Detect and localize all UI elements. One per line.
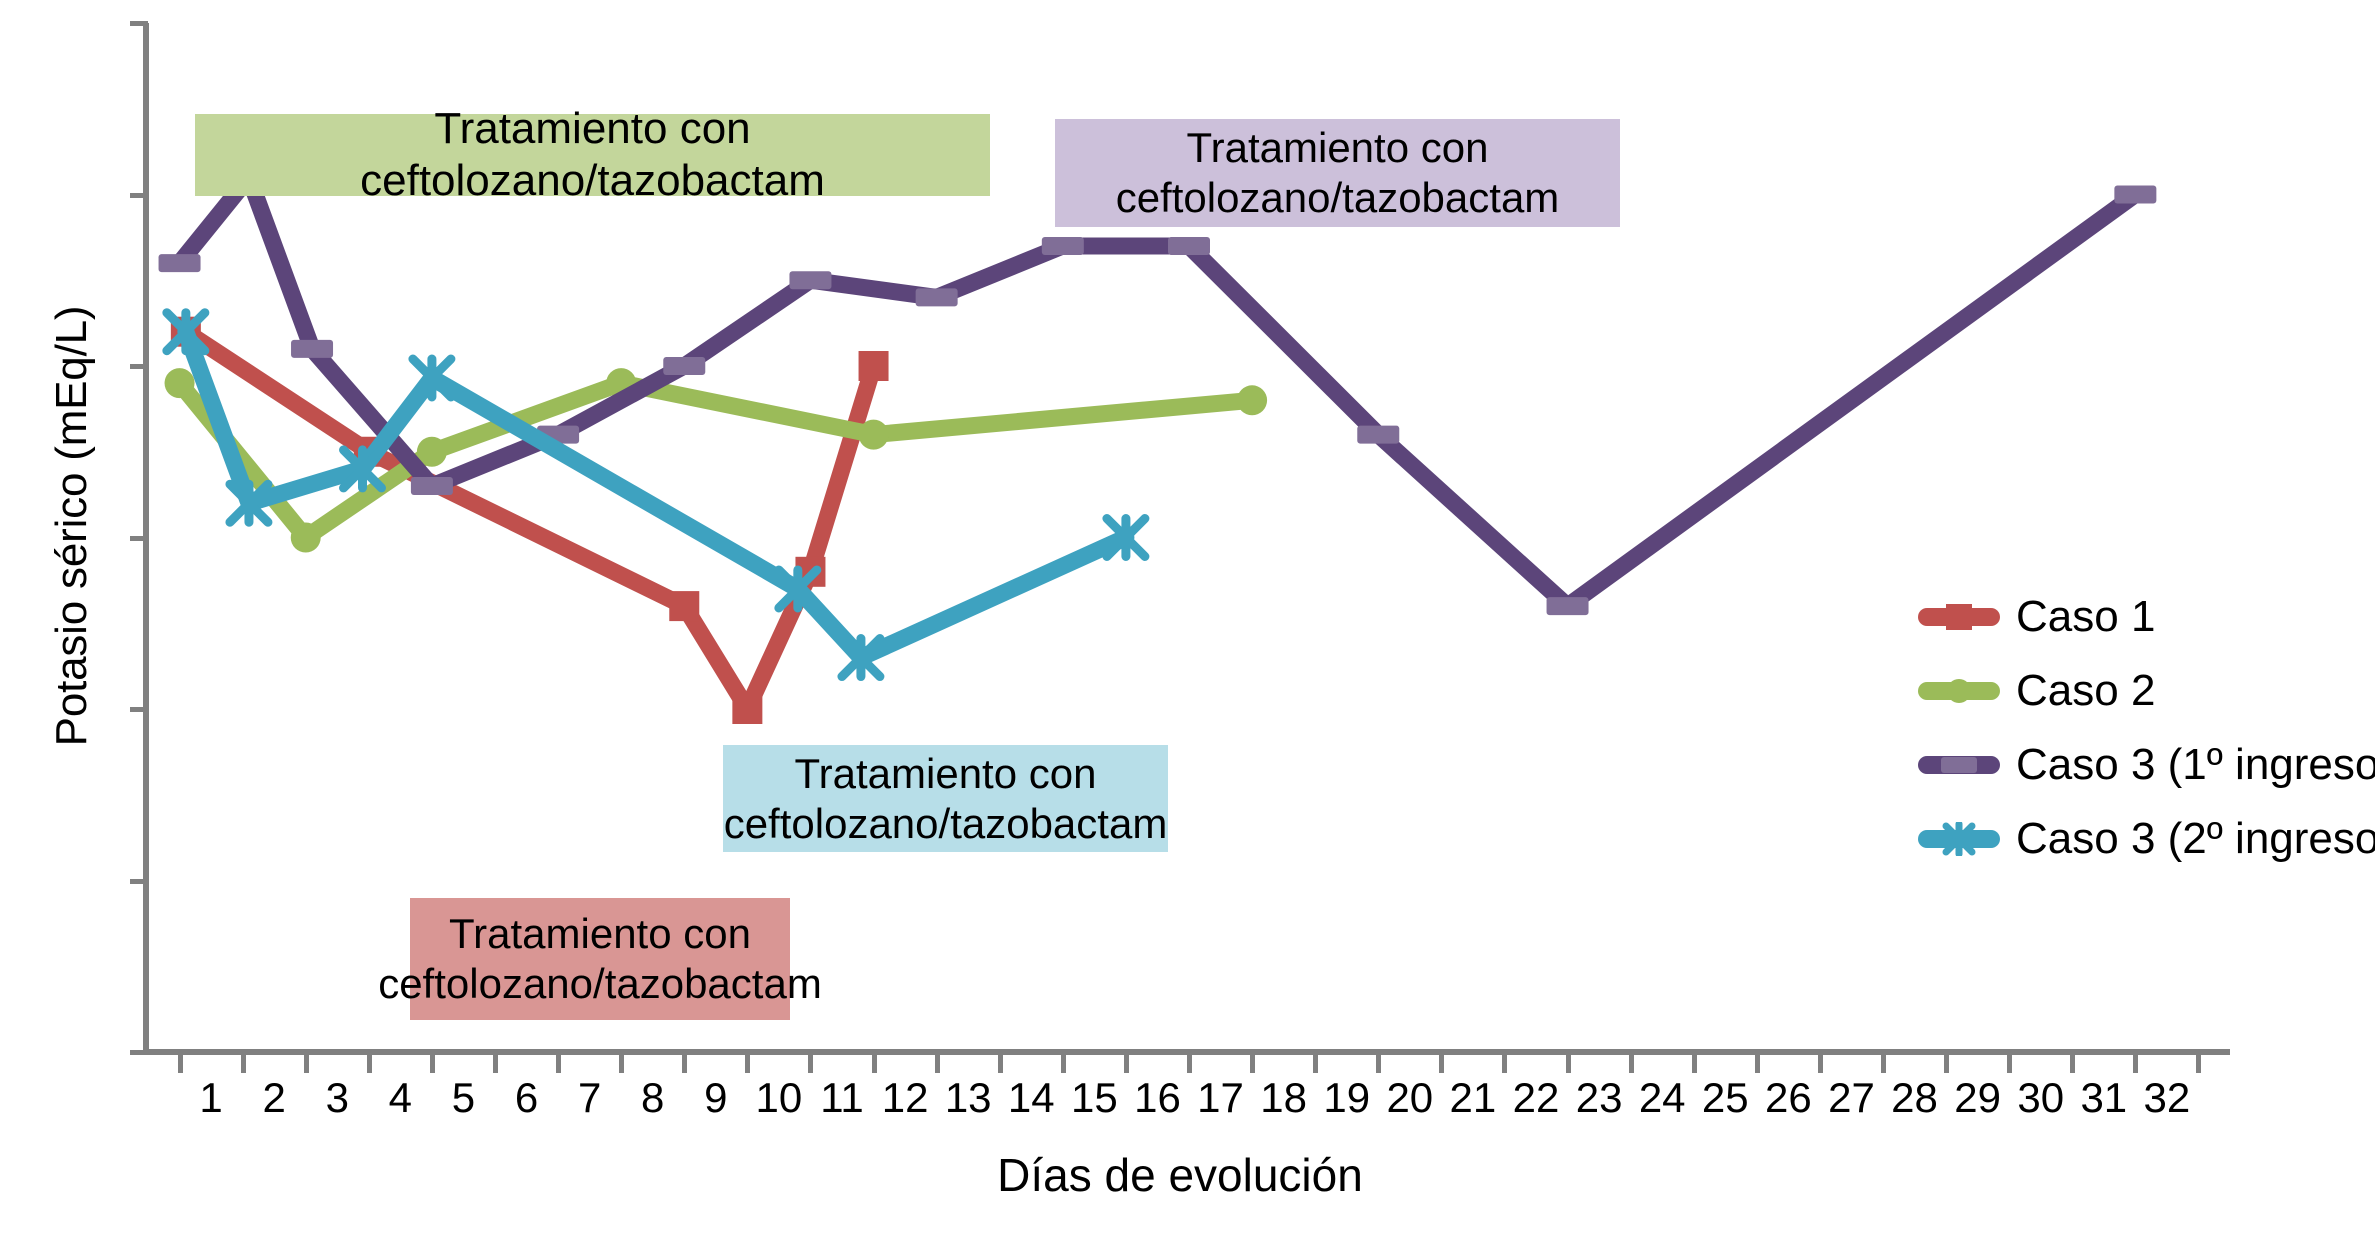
x-tick-label: 20 <box>1380 1077 1440 1119</box>
legend-marker-icon <box>1946 604 1972 630</box>
x-tick-label: 14 <box>1001 1077 1061 1119</box>
x-tick-label: 29 <box>1948 1077 2008 1119</box>
x-tick-label: 31 <box>2074 1077 2134 1119</box>
x-tick-mark <box>556 1053 561 1073</box>
potassium-evolution-chart: Potasio sérico (mEq/L) 0123456 123456789… <box>0 0 2375 1238</box>
x-tick-mark <box>1755 1053 1760 1073</box>
data-point <box>2114 186 2156 204</box>
x-tick-label: 27 <box>1821 1077 1881 1119</box>
annotation-box-caso1: Tratamiento con ceftolozano/tazobactam <box>410 898 790 1020</box>
x-tick-label: 10 <box>749 1077 809 1119</box>
x-tick-label: 21 <box>1443 1077 1503 1119</box>
legend-marker-icon <box>1942 822 1976 856</box>
x-tick-label: 18 <box>1254 1077 1314 1119</box>
legend-label: Caso 3 (1º ingreso) <box>2016 743 2375 787</box>
x-tick-label: 13 <box>938 1077 998 1119</box>
x-tick-label: 24 <box>1632 1077 1692 1119</box>
x-tick-label: 26 <box>1758 1077 1818 1119</box>
x-tick-mark <box>619 1053 624 1073</box>
x-tick-label: 11 <box>812 1077 872 1119</box>
x-tick-mark <box>304 1053 309 1073</box>
series-1 <box>171 317 889 724</box>
data-point <box>1168 237 1210 255</box>
x-tick-mark <box>808 1053 813 1073</box>
annotation-box-caso2: Tratamiento con ceftolozano/tazobactam <box>195 114 990 196</box>
x-tick-label: 1 <box>181 1077 241 1119</box>
legend-swatch-x-icon <box>1918 830 2000 848</box>
x-tick-mark <box>682 1053 687 1073</box>
data-point <box>1547 597 1589 615</box>
series-2 <box>165 368 1268 552</box>
x-tick-mark <box>1187 1053 1192 1073</box>
legend-label: Caso 3 (2º ingreso) <box>2016 817 2375 861</box>
x-tick-mark <box>493 1053 498 1073</box>
x-tick-mark <box>1124 1053 1129 1073</box>
legend-marker-icon <box>1941 757 1977 773</box>
data-point <box>859 420 889 450</box>
legend-label: Caso 2 <box>2016 669 2155 713</box>
x-tick-mark <box>872 1053 877 1073</box>
x-tick-label: 16 <box>1127 1077 1187 1119</box>
x-tick-label: 6 <box>497 1077 557 1119</box>
x-tick-mark <box>2133 1053 2138 1073</box>
series-4 <box>167 313 1145 677</box>
legend-swatch-square-icon <box>1918 608 2000 626</box>
x-tick-label: 22 <box>1506 1077 1566 1119</box>
x-tick-label: 8 <box>623 1077 683 1119</box>
data-point <box>1042 237 1084 255</box>
legend-item-4[interactable]: Caso 3 (2º ingreso) <box>1918 802 2375 876</box>
annotation-box-caso3-primer-ingreso: Tratamiento con ceftolozano/tazobactam <box>1055 119 1620 227</box>
data-point <box>291 523 321 553</box>
data-point <box>1237 385 1267 415</box>
legend-swatch-circle-icon <box>1918 682 2000 700</box>
x-tick-mark <box>178 1053 183 1073</box>
x-tick-mark <box>2007 1053 2012 1073</box>
data-point <box>663 357 705 375</box>
legend-item-1[interactable]: Caso 1 <box>1918 580 2375 654</box>
data-point <box>669 591 699 621</box>
x-tick-label: 15 <box>1064 1077 1124 1119</box>
x-tick-mark <box>1250 1053 1255 1073</box>
x-tick-mark <box>1629 1053 1634 1073</box>
series-line <box>180 383 1253 537</box>
x-tick-label: 32 <box>2137 1077 2197 1119</box>
data-point <box>159 254 201 272</box>
legend-item-3[interactable]: Caso 3 (1º ingreso) <box>1918 728 2375 802</box>
x-tick-label: 17 <box>1191 1077 1251 1119</box>
data-point <box>165 368 195 398</box>
x-tick-mark <box>1376 1053 1381 1073</box>
x-tick-mark <box>998 1053 1003 1073</box>
x-tick-mark <box>1692 1053 1697 1073</box>
x-axis-title: Días de evolución <box>160 1148 2200 1202</box>
x-tick-label: 25 <box>1695 1077 1755 1119</box>
x-tick-label: 30 <box>2011 1077 2071 1119</box>
x-tick-label: 19 <box>1317 1077 1377 1119</box>
x-tick-label: 9 <box>686 1077 746 1119</box>
series-line <box>180 177 2136 606</box>
x-tick-mark <box>1502 1053 1507 1073</box>
legend-label: Caso 1 <box>2016 595 2155 639</box>
x-tick-label: 7 <box>560 1077 620 1119</box>
data-point <box>732 694 762 724</box>
data-point <box>789 271 831 289</box>
x-tick-mark <box>935 1053 940 1073</box>
data-point <box>291 340 333 358</box>
x-tick-mark <box>241 1053 246 1073</box>
legend-marker-icon <box>1947 679 1971 703</box>
data-point <box>859 351 889 381</box>
x-tick-label: 28 <box>1885 1077 1945 1119</box>
x-tick-mark <box>1818 1053 1823 1073</box>
x-tick-label: 4 <box>370 1077 430 1119</box>
data-point <box>1357 426 1399 444</box>
legend-swatch-rect-icon <box>1918 756 2000 774</box>
x-tick-mark <box>1439 1053 1444 1073</box>
x-tick-mark <box>1313 1053 1318 1073</box>
x-tick-label: 12 <box>875 1077 935 1119</box>
x-tick-label: 5 <box>433 1077 493 1119</box>
x-tick-mark <box>1566 1053 1571 1073</box>
x-tick-mark <box>367 1053 372 1073</box>
x-tick-mark <box>1881 1053 1886 1073</box>
x-tick-mark <box>430 1053 435 1073</box>
x-tick-mark <box>745 1053 750 1073</box>
x-tick-label: 2 <box>244 1077 304 1119</box>
annotation-box-caso3-segundo-ingreso: Tratamiento con ceftolozano/tazobactam <box>723 745 1168 852</box>
x-tick-mark <box>1944 1053 1949 1073</box>
legend-item-2[interactable]: Caso 2 <box>1918 654 2375 728</box>
data-point <box>916 288 958 306</box>
x-tick-mark <box>1061 1053 1066 1073</box>
x-tick-label: 23 <box>1569 1077 1629 1119</box>
x-tick-mark <box>2196 1053 2201 1073</box>
legend: Caso 1Caso 2Caso 3 (1º ingreso)Caso 3 (2… <box>1918 580 2375 876</box>
data-point <box>411 477 453 495</box>
x-tick-label: 3 <box>307 1077 367 1119</box>
x-tick-mark <box>2070 1053 2075 1073</box>
